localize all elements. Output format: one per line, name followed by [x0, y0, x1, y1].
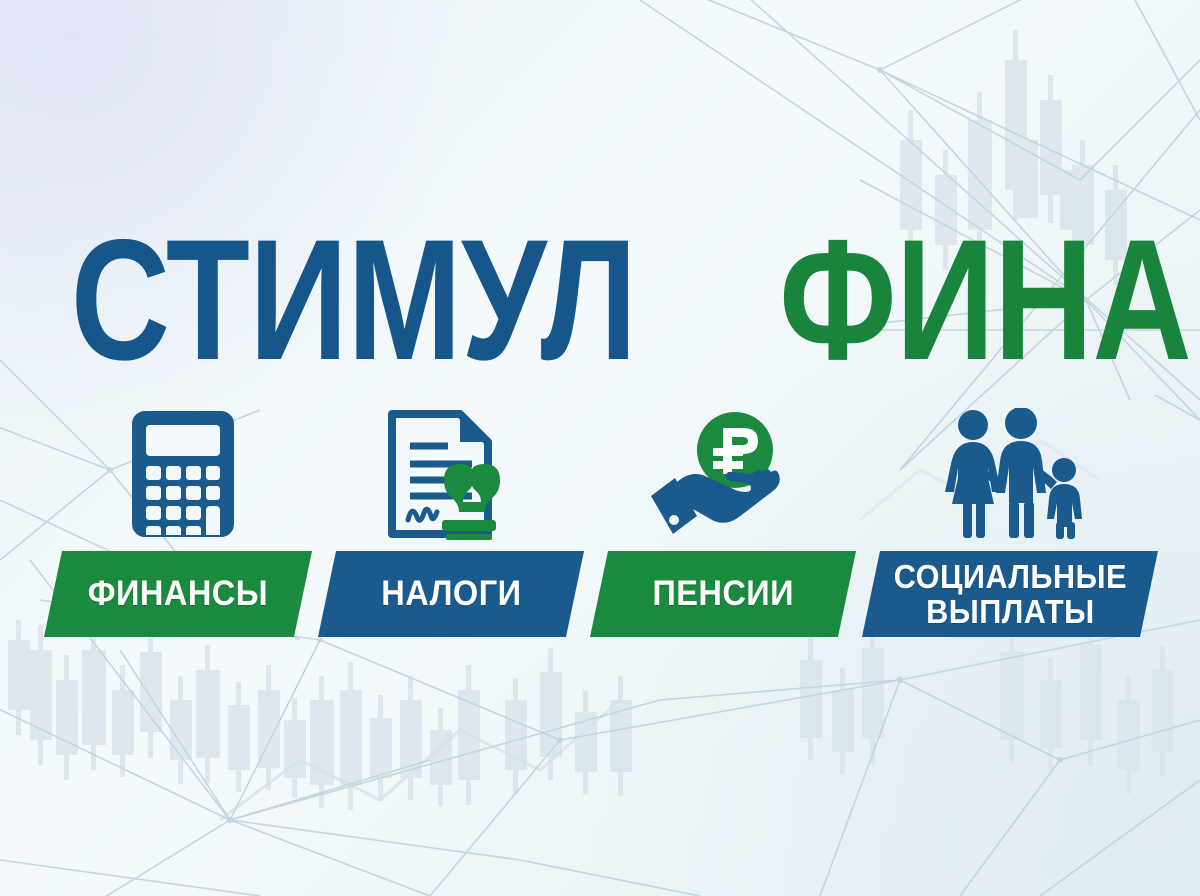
icon-item-social-payments — [935, 404, 1095, 544]
calculator-icon — [129, 408, 237, 540]
icon-row — [0, 404, 1200, 544]
page-title: СТИМУЛ ФИНАНС — [0, 214, 1200, 386]
document-stamp-icon — [384, 408, 502, 540]
title-word-stimul: СТИМУЛ — [71, 214, 637, 386]
tag-finansy-label: ФИНАНСЫ — [88, 574, 268, 614]
family-icon — [939, 408, 1091, 540]
title-word-finans: ФИНАНС — [780, 214, 1200, 386]
tag-social-payments-line-2: ВЫПЛАТЫ — [926, 593, 1094, 630]
tag-pensii-label: ПЕНСИИ — [652, 574, 794, 614]
brand-banner: СТИМУЛ ФИНАНС — [0, 0, 1200, 896]
tag-pensii[interactable]: ПЕНСИИ — [590, 551, 856, 637]
tag-social-payments[interactable]: СОЦИАЛЬНЫЕ ВЫПЛАТЫ — [862, 551, 1158, 637]
tag-social-payments-label: СОЦИАЛЬНЫЕ ВЫПЛАТЫ — [893, 559, 1126, 630]
icon-item-finance — [113, 404, 253, 544]
tag-nalogi-label: НАЛОГИ — [381, 574, 521, 614]
icon-item-pensions — [640, 404, 805, 544]
icon-item-taxes — [373, 404, 513, 544]
hand-ruble-coin-icon — [643, 408, 803, 540]
tag-finansy[interactable]: ФИНАНСЫ — [44, 551, 312, 637]
tag-social-payments-line-1: СОЦИАЛЬНЫЕ — [893, 558, 1126, 595]
category-tag-row: ФИНАНСЫ НАЛОГИ ПЕНСИИ СОЦИАЛЬНЫЕ ВЫПЛАТЫ — [0, 551, 1200, 637]
tag-nalogi[interactable]: НАЛОГИ — [318, 551, 584, 637]
